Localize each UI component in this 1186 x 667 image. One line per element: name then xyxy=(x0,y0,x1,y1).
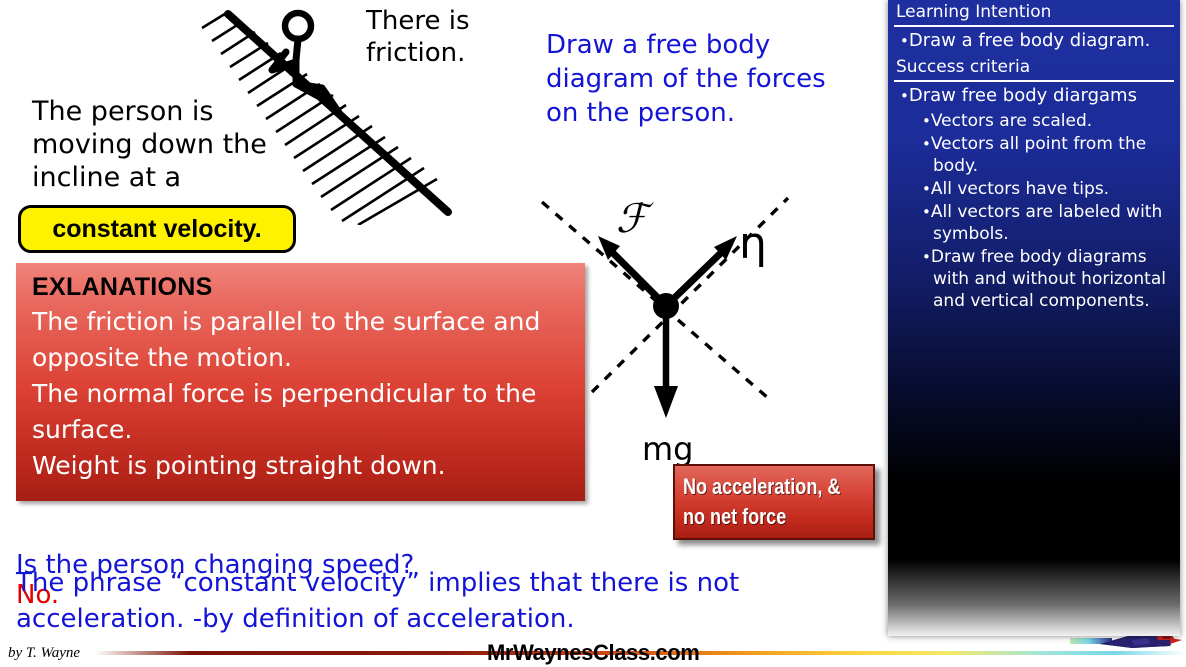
learning-intention-sidebar: Learning Intention •Draw a free body dia… xyxy=(888,0,1180,636)
author-byline: by T. Wayne xyxy=(8,645,80,662)
bullet-icon: • xyxy=(922,135,931,153)
normal-label: η xyxy=(739,218,767,269)
success-criteria-main: •Draw free body diargams xyxy=(900,84,1172,108)
learning-intention-item: •Draw a free body diagram. xyxy=(900,29,1172,53)
bullet-icon: • xyxy=(922,180,931,198)
success-criteria-item: •All vectors are labeled with symbols. xyxy=(922,201,1172,245)
body-point xyxy=(653,293,679,319)
sidebar-divider-2 xyxy=(894,80,1174,82)
bullet-icon: • xyxy=(922,112,931,130)
constant-velocity-label: constant velocity. xyxy=(52,215,261,244)
free-body-diagram: ℱ η mg xyxy=(520,170,860,470)
slide-canvas: The person is moving down the incline at… xyxy=(0,0,1186,667)
bullet-icon: • xyxy=(900,87,909,105)
constant-velocity-explanation: The phrase “constant velocity” implies t… xyxy=(16,565,796,637)
explanations-title: EXLANATIONS xyxy=(32,273,571,302)
weight-label: mg xyxy=(642,430,693,468)
constant-velocity-callout: constant velocity. xyxy=(18,205,296,253)
normal-vector xyxy=(666,236,737,306)
learning-intention-header: Learning Intention xyxy=(888,0,1180,24)
weight-vector xyxy=(654,306,678,418)
friction-note-text: There is friction. xyxy=(366,5,546,69)
no-acceleration-line-1: No acceleration, & xyxy=(683,472,839,502)
explanations-body: The friction is parallel to the surface … xyxy=(32,304,571,484)
no-acceleration-box: No acceleration, & no net force xyxy=(673,464,875,540)
bullet-icon: • xyxy=(922,248,931,266)
success-criteria-item: •Draw free body diagrams with and withou… xyxy=(922,246,1172,312)
draw-free-body-prompt: Draw a free body diagram of the forces o… xyxy=(546,28,846,130)
sidebar-divider-1 xyxy=(894,25,1174,27)
success-criteria-item: •All vectors have tips. xyxy=(922,178,1172,200)
friction-vector xyxy=(598,236,666,306)
success-criteria-header: Success criteria xyxy=(888,55,1180,79)
success-criteria-item: •Vectors are scaled. xyxy=(922,110,1172,132)
site-name-label: MrWaynesClass.com xyxy=(487,640,699,666)
friction-label: ℱ xyxy=(616,196,654,241)
explanations-box: EXLANATIONS The friction is parallel to … xyxy=(16,263,585,501)
bullet-icon: • xyxy=(900,32,909,50)
person-statement-text: The person is moving down the incline at… xyxy=(32,95,292,194)
bullet-icon: • xyxy=(922,203,931,221)
no-acceleration-line-2: no net force xyxy=(683,502,839,532)
success-criteria-item: •Vectors all point from the body. xyxy=(922,133,1172,177)
